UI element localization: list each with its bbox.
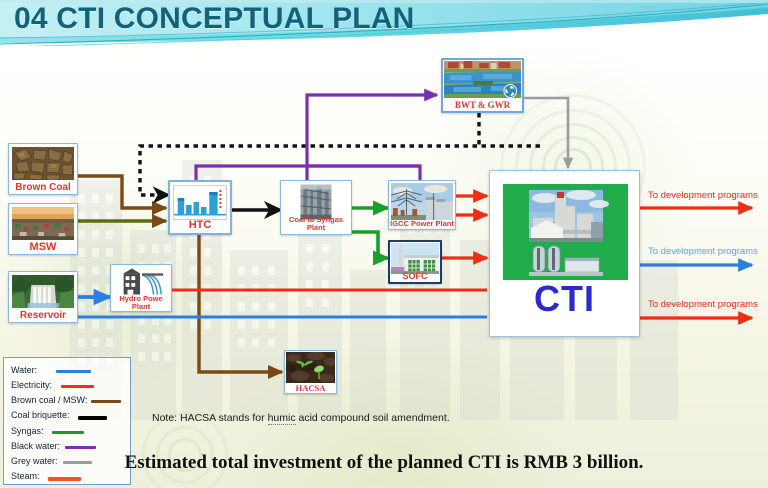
- node-brown-coal-label: Brown Coal: [9, 183, 77, 193]
- node-brown-coal[interactable]: Brown Coal: [8, 143, 78, 195]
- note-suffix: acid compound soil amendment.: [296, 412, 450, 424]
- node-cti-label: CTI: [490, 281, 639, 317]
- line-htc-to-hacsa: [199, 235, 282, 372]
- htc-chart-icon: [173, 185, 227, 220]
- node-sofc[interactable]: SOFC: [388, 240, 442, 284]
- node-coal-to-syngas-plant[interactable]: Coal to Syngas Plant: [280, 180, 352, 235]
- note-prefix: Note: HACSA stands for: [152, 412, 268, 424]
- line-brown-coal-to-htc: [78, 176, 166, 208]
- hydro-plant-icon: [114, 268, 168, 296]
- output-label-3: To development programs: [648, 299, 758, 310]
- node-hydro-power-plant[interactable]: Hydro Powe Plant: [110, 264, 172, 312]
- legend-swatch-coal-briquette: [78, 416, 107, 420]
- node-cti[interactable]: CTI: [489, 170, 640, 337]
- node-reservoir-label: Reservoir: [9, 311, 77, 321]
- node-igcc-power-plant[interactable]: IGCC Power Plant: [388, 180, 456, 230]
- legend-label-water: Water:: [11, 365, 37, 375]
- footer-statement: Estimated total investment of the planne…: [0, 452, 768, 474]
- note-underlined-word: humic: [268, 412, 296, 425]
- legend-label-electricity: Electricity:: [11, 380, 52, 390]
- node-igcc-label: IGCC Power Plant: [389, 220, 455, 228]
- node-msw-label: MSW: [9, 242, 77, 253]
- output-label-1: To development programs: [648, 190, 758, 201]
- legend-label-black-water: Black water:: [11, 441, 60, 451]
- reservoir-image: [12, 275, 74, 308]
- line-greywater-bwt-to-cti: [524, 98, 568, 168]
- legend-swatch-steam: [48, 477, 81, 481]
- cti-image-panel: [503, 184, 628, 280]
- node-bwt-gwr[interactable]: BWT & GWR: [441, 58, 524, 113]
- line-syngas-to-sofc: [352, 232, 388, 258]
- legend-label-coal-briquette: Coal briquette:: [11, 410, 70, 420]
- legend-swatch-water: [56, 370, 91, 373]
- legend-swatch-black-water: [65, 446, 96, 449]
- legend-swatch-electricity: [61, 385, 94, 388]
- bwt-gwr-image: [444, 61, 521, 98]
- legend-swatch-brown-coal-msw: [91, 400, 121, 403]
- node-hydro-label: Hydro Powe Plant: [111, 295, 171, 310]
- node-reservoir[interactable]: Reservoir: [8, 271, 78, 323]
- note-text: Note: HACSA stands for humic acid compou…: [152, 412, 450, 424]
- slide-canvas: 04 CTI CONCEPTUAL PLAN: [0, 0, 768, 488]
- hacsa-image: [286, 352, 335, 383]
- brown-coal-image: [12, 147, 74, 180]
- output-label-2: To development programs: [648, 246, 758, 257]
- legend-swatch-syngas: [52, 431, 84, 434]
- sofc-image: [391, 243, 439, 274]
- node-coal-to-syngas-label: Coal to Syngas Plant: [281, 216, 351, 231]
- node-msw[interactable]: MSW: [8, 203, 78, 255]
- legend-label-brown-coal-msw: Brown coal / MSW:: [11, 395, 87, 405]
- node-htc[interactable]: HTC: [168, 180, 232, 235]
- msw-image: [12, 207, 74, 240]
- node-sofc-label: SOFC: [390, 272, 440, 281]
- node-bwt-gwr-label: BWT & GWR: [443, 101, 522, 110]
- igcc-image: [391, 183, 453, 220]
- legend-label-syngas: Syngas:: [11, 426, 44, 436]
- node-hacsa-label: HACSA: [285, 384, 336, 393]
- line-blackwater-to-igcc: [307, 166, 420, 180]
- node-htc-label: HTC: [170, 220, 230, 231]
- node-hacsa[interactable]: HACSA: [284, 350, 337, 394]
